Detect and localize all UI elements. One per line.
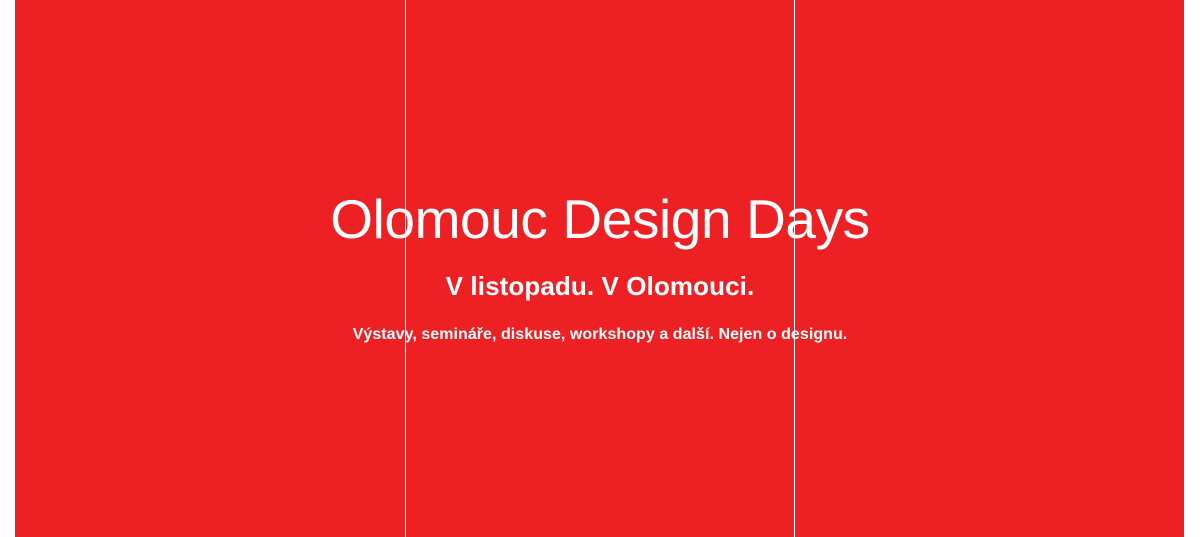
page-title: Olomouc Design Days (330, 191, 870, 249)
hero-content: Olomouc Design Days V listopadu. V Olomo… (0, 0, 1200, 537)
hero-subtitle: V listopadu. V Olomouci. (446, 271, 755, 302)
hero-tagline: Výstavy, semináře, diskuse, workshopy a … (353, 325, 848, 346)
hero-banner: Olomouc Design Days V listopadu. V Olomo… (0, 0, 1200, 537)
